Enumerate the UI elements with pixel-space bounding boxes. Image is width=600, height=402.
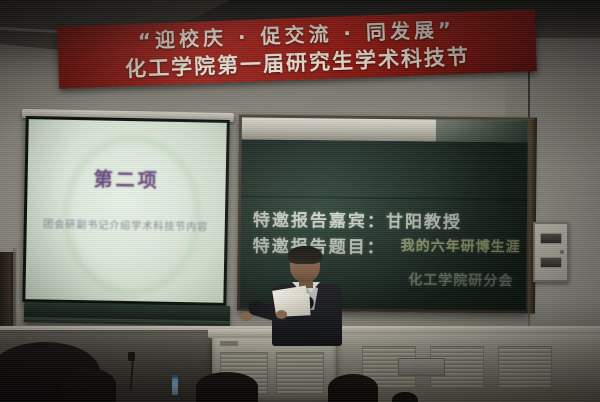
microphone-icon bbox=[128, 352, 135, 361]
audience-head bbox=[196, 372, 258, 402]
desk-vent-3 bbox=[498, 346, 552, 388]
chalkboard-panel-split bbox=[241, 196, 527, 201]
podium-badge bbox=[220, 341, 238, 346]
projection-screen: 第二项 团会研副书记介绍学术科技节内容 bbox=[22, 116, 230, 312]
speaker-hair bbox=[288, 246, 322, 264]
panel-knob bbox=[560, 250, 564, 254]
audience-head bbox=[392, 392, 418, 402]
lecture-hall-photo: “迎校庆 · 促交流 · 同发展” 化工学院第一届研究生学术科技节 第二项 团会… bbox=[0, 0, 600, 402]
chalk-line-topic-value: 我的六年研博生涯 bbox=[401, 235, 521, 256]
wall-switch-panel bbox=[533, 222, 569, 282]
slide-title: 第二项 bbox=[27, 163, 225, 194]
speaker-figure bbox=[262, 248, 354, 346]
chalk-ledge bbox=[24, 302, 230, 326]
panel-slot-bottom bbox=[540, 257, 562, 268]
screen-frame: 第二项 团会研副书记介绍学术科技节内容 bbox=[22, 116, 230, 306]
panel-slot-top bbox=[540, 233, 562, 244]
chalk-line-guest: 特邀报告嘉宾：甘阳教授 bbox=[253, 206, 462, 233]
screen-surface: 第二项 团会研副书记介绍学术科技节内容 bbox=[25, 119, 226, 303]
speaker-left-hand bbox=[240, 312, 252, 321]
water-bottle bbox=[172, 378, 178, 395]
slide-subtitle: 团会研副书记介绍学术科技节内容 bbox=[27, 215, 225, 234]
audience-head bbox=[60, 368, 116, 402]
wall-vent bbox=[398, 358, 445, 376]
chalk-line-organizer: 化工学院研分会 bbox=[408, 269, 513, 290]
podium-vent-right bbox=[276, 352, 324, 394]
speaker-right-hand bbox=[276, 310, 287, 319]
audience-head bbox=[328, 374, 378, 402]
chalkboard-track-shadow bbox=[436, 120, 528, 143]
